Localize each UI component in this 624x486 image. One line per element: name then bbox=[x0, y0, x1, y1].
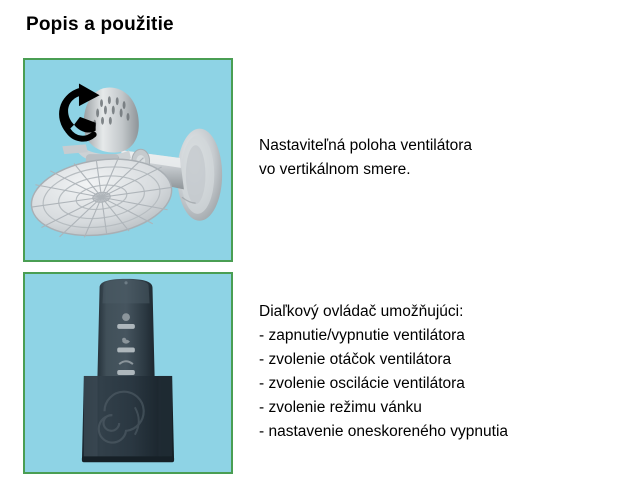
text-line: - zapnutie/vypnutie ventilátora bbox=[259, 324, 508, 348]
fan-image-panel bbox=[23, 58, 233, 262]
page-title: Popis a použitie bbox=[26, 14, 174, 36]
remote-description-text: Diaľkový ovládač umožňujúci: - zapnutie/… bbox=[259, 300, 508, 444]
text-line: - zvolenie oscilácie ventilátora bbox=[259, 372, 508, 396]
fan-motor-head-icon bbox=[62, 87, 138, 165]
remote-holder-icon bbox=[82, 376, 174, 462]
text-line: - zvolenie režimu vánku bbox=[259, 396, 508, 420]
wall-mount-plate-icon bbox=[177, 129, 222, 221]
text-line: - zvolenie otáčok ventilátora bbox=[259, 348, 508, 372]
text-line: vo vertikálnom smere. bbox=[259, 158, 472, 182]
text-line: - nastavenie oneskoreného vypnutia bbox=[259, 420, 508, 444]
text-line: Diaľkový ovládač umožňujúci: bbox=[259, 300, 508, 324]
text-line: Nastaviteľná poloha ventilátora bbox=[259, 134, 472, 158]
fan-description-text: Nastaviteľná poloha ventilátora vo verti… bbox=[259, 134, 472, 182]
wall-fan-illustration bbox=[25, 60, 231, 260]
remote-control-illustration bbox=[25, 274, 231, 472]
remote-image-panel bbox=[23, 272, 233, 474]
